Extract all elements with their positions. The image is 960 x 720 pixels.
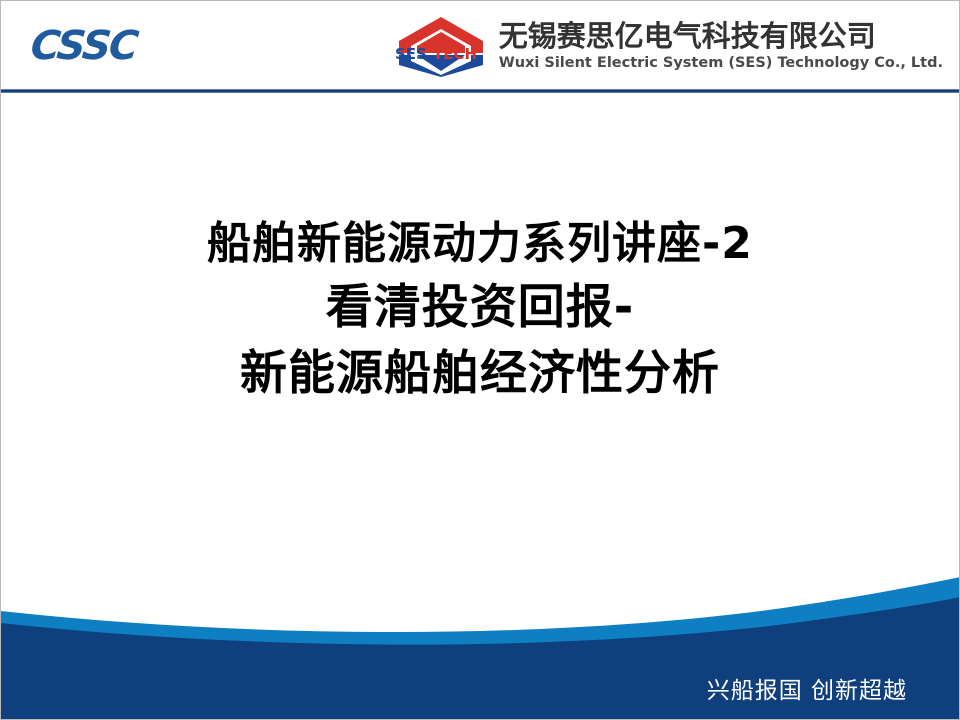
sestech-logo-block: SES TECH 无锡赛思亿电气科技有限公司 Wuxi Silent Elect…	[393, 13, 943, 79]
presentation-slide: CSSC SES TECH	[0, 0, 960, 720]
company-names: 无锡赛思亿电气科技有限公司 Wuxi Silent Electric Syste…	[499, 22, 943, 71]
sestech-tech-text: TECH	[433, 45, 477, 63]
company-name-cn: 无锡赛思亿电气科技有限公司	[499, 22, 943, 51]
slide-title-area: 船舶新能源动力系列讲座-2 看清投资回报- 新能源船舶经济性分析	[1, 213, 959, 407]
sestech-emblem-icon: SES TECH	[393, 15, 489, 77]
header-divider	[1, 89, 959, 93]
cssc-wordmark: CSSC	[29, 23, 194, 69]
footer-slogan: 兴船报国 创新超越	[707, 671, 907, 705]
company-name-en: Wuxi Silent Electric System (SES) Techno…	[499, 56, 943, 71]
title-line-2: 看清投资回报-	[1, 275, 959, 341]
title-line-1: 船舶新能源动力系列讲座-2	[1, 213, 959, 275]
slide-header: CSSC SES TECH	[1, 1, 959, 89]
sestech-ses-text: SES	[395, 45, 427, 63]
title-line-3: 新能源船舶经济性分析	[1, 341, 959, 407]
cssc-logo: CSSC	[31, 23, 191, 69]
